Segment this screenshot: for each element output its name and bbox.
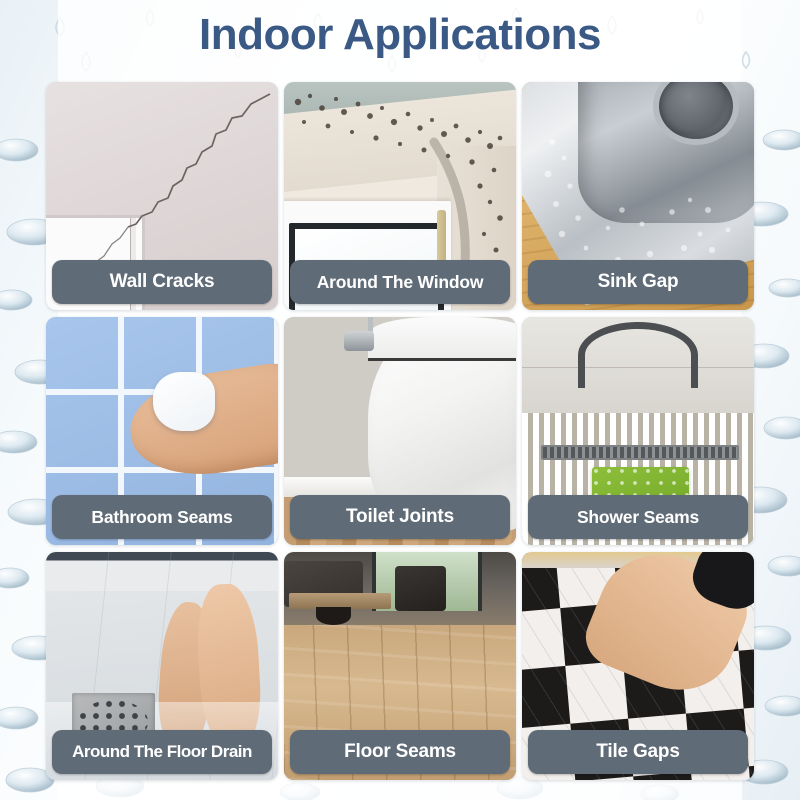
application-label: Tile Gaps <box>528 730 748 774</box>
application-label: Bathroom Seams <box>52 495 272 539</box>
application-label: Shower Seams <box>528 495 748 539</box>
application-card-around-the-floor-drain[interactable]: Around The Floor Drain <box>46 552 278 780</box>
application-label: Wall Cracks <box>52 260 272 304</box>
application-label: Toilet Joints <box>290 495 510 539</box>
application-label: Sink Gap <box>528 260 748 304</box>
application-label: Around The Window <box>290 260 510 304</box>
application-label: Floor Seams <box>290 730 510 774</box>
application-card-bathroom-seams[interactable]: Bathroom Seams <box>46 317 278 545</box>
page-title: Indoor Applications <box>0 10 800 60</box>
application-card-toilet-joints[interactable]: Toilet Joints <box>284 317 516 545</box>
application-card-around-the-window[interactable]: Around The Window <box>284 82 516 310</box>
application-card-tile-gaps[interactable]: Tile Gaps <box>522 552 754 780</box>
application-card-shower-seams[interactable]: Shower Seams <box>522 317 754 545</box>
application-card-sink-gap[interactable]: Sink Gap <box>522 82 754 310</box>
application-card-wall-cracks[interactable]: Wall Cracks <box>46 82 278 310</box>
application-card-floor-seams[interactable]: Floor Seams <box>284 552 516 780</box>
application-label: Around The Floor Drain <box>52 730 272 774</box>
applications-grid: Wall Cracks <box>46 82 754 782</box>
